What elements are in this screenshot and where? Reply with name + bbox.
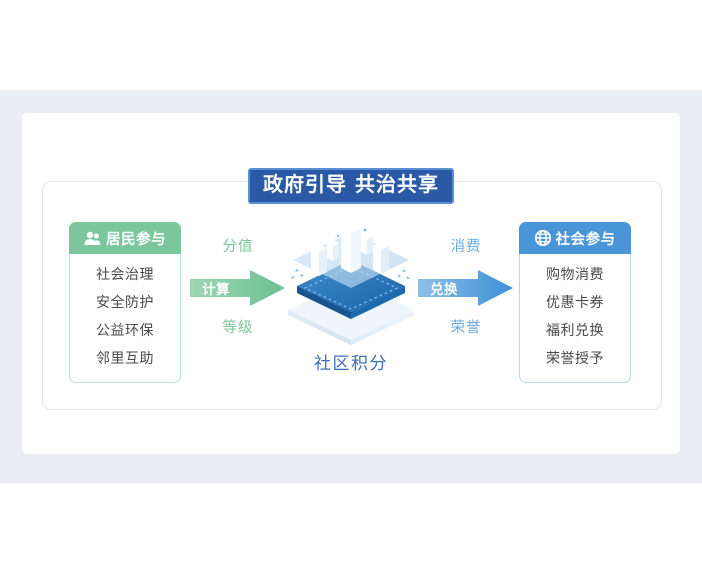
globe-icon — [535, 230, 551, 246]
flow-arrow-calculate: 分值 计算 等级 — [190, 240, 286, 335]
panel-right-title: 社会参与 — [556, 228, 616, 249]
arrow-right-graphic: 兑换 — [418, 269, 514, 307]
arrow-left-graphic: 计算 — [190, 269, 286, 307]
list-item[interactable]: 福利兑换 — [520, 317, 630, 345]
flow-arrow-redeem: 消费 兑换 荣誉 — [418, 240, 514, 335]
arrow-right-bottom-label: 荣誉 — [418, 321, 514, 336]
panel-right-header: 社会参与 — [519, 222, 631, 254]
people-icon — [84, 231, 101, 246]
panel-social-participation[interactable]: 社会参与 购物消费 优惠卡券 福利兑换 荣誉授予 — [519, 222, 631, 383]
arrow-left-bottom-label: 等级 — [190, 321, 286, 336]
panel-resident-participation[interactable]: 居民参与 社会治理 安全防护 公益环保 邻里互助 — [69, 222, 181, 383]
panel-left-header: 居民参与 — [69, 222, 181, 254]
arrow-right-top-label: 消费 — [418, 240, 514, 255]
list-item[interactable]: 荣誉授予 — [520, 345, 630, 373]
list-item[interactable]: 社会治理 — [70, 261, 180, 289]
arrow-left-top-label: 分值 — [190, 240, 286, 255]
list-item[interactable]: 公益环保 — [70, 317, 180, 345]
panel-right-list: 购物消费 优惠卡券 福利兑换 荣誉授予 — [519, 254, 631, 383]
list-item[interactable]: 邻里互助 — [70, 345, 180, 373]
panel-left-list: 社会治理 安全防护 公益环保 邻里互助 — [69, 254, 181, 383]
arrow-right-center-label: 兑换 — [418, 269, 514, 307]
list-item[interactable]: 购物消费 — [520, 261, 630, 289]
arrow-left-center-label: 计算 — [190, 269, 286, 307]
center-illustration-group: 社区积分 — [281, 222, 421, 374]
isometric-city-platform-icon — [281, 222, 421, 345]
center-label: 社区积分 — [281, 349, 421, 374]
panel-left-title: 居民参与 — [106, 228, 166, 249]
page-title: 政府引导 共治共享 — [248, 168, 454, 204]
list-item[interactable]: 优惠卡券 — [520, 289, 630, 317]
infographic-canvas: 政府引导 共治共享 居民参与 社会治理 安全防护 公益环保 邻里互助 — [0, 0, 702, 570]
list-item[interactable]: 安全防护 — [70, 289, 180, 317]
